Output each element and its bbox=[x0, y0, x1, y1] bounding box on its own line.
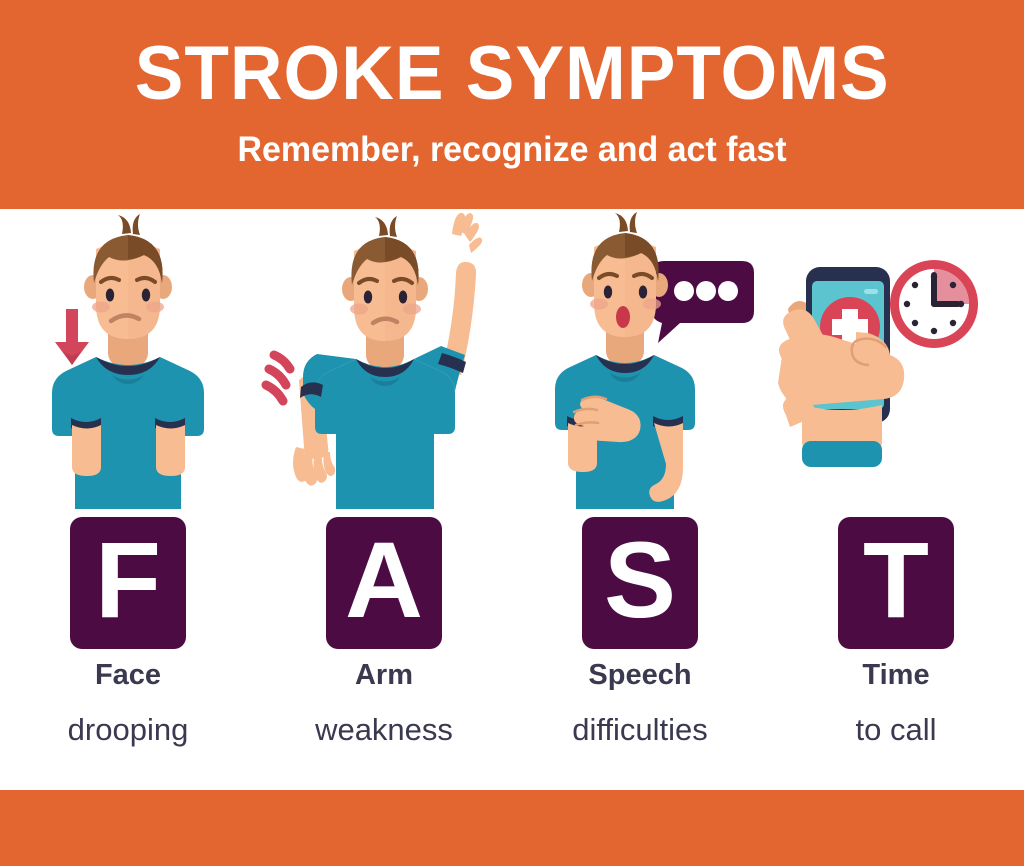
symptom-column-arm: A Arm weakness bbox=[256, 209, 512, 790]
caption-title: Arm bbox=[256, 661, 512, 690]
caption-speech: Speech difficulties bbox=[512, 661, 768, 745]
speech-difficulties-illustration bbox=[512, 209, 768, 509]
time-to-call-illustration bbox=[768, 209, 1024, 509]
caption-title: Speech bbox=[512, 661, 768, 690]
caption-subtitle: drooping bbox=[0, 714, 256, 745]
footer-bar bbox=[0, 790, 1024, 866]
header-bar: STROKE SYMPTOMS Remember, recognize and … bbox=[0, 0, 1024, 209]
caption-title: Face bbox=[0, 661, 256, 690]
face-drooping-illustration bbox=[0, 209, 256, 509]
letter-tile-s: S bbox=[582, 517, 698, 649]
motion-lines-icon bbox=[266, 355, 290, 401]
tile-letter-text: A bbox=[345, 526, 423, 634]
speech-bubble-icon bbox=[652, 261, 754, 343]
symptom-column-face: F Face drooping bbox=[0, 209, 256, 790]
letter-tile-t: T bbox=[838, 517, 954, 649]
down-arrow-icon bbox=[55, 309, 89, 365]
caption-subtitle: weakness bbox=[256, 714, 512, 745]
letter-tile-a: A bbox=[326, 517, 442, 649]
stroke-symptoms-poster: STROKE SYMPTOMS Remember, recognize and … bbox=[0, 0, 1024, 866]
caption-subtitle: difficulties bbox=[512, 714, 768, 745]
letter-tile-f: F bbox=[70, 517, 186, 649]
tile-letter-text: F bbox=[95, 526, 161, 634]
caption-arm: Arm weakness bbox=[256, 661, 512, 745]
clock-icon bbox=[890, 260, 978, 348]
symptom-columns: F Face drooping bbox=[0, 209, 1024, 790]
page-title: STROKE SYMPTOMS bbox=[135, 36, 890, 112]
symptom-column-speech: S Speech difficulties bbox=[512, 209, 768, 790]
symptom-column-time: T Time to call bbox=[768, 209, 1024, 790]
arm-weakness-illustration bbox=[256, 209, 512, 509]
caption-face: Face drooping bbox=[0, 661, 256, 745]
open-mouth-icon bbox=[616, 306, 630, 328]
caption-title: Time bbox=[768, 661, 1024, 690]
tile-letter-text: T bbox=[863, 526, 929, 634]
caption-time: Time to call bbox=[768, 661, 1024, 745]
caption-subtitle: to call bbox=[768, 714, 1024, 745]
page-subtitle: Remember, recognize and act fast bbox=[237, 132, 786, 167]
tile-letter-text: S bbox=[604, 526, 676, 634]
